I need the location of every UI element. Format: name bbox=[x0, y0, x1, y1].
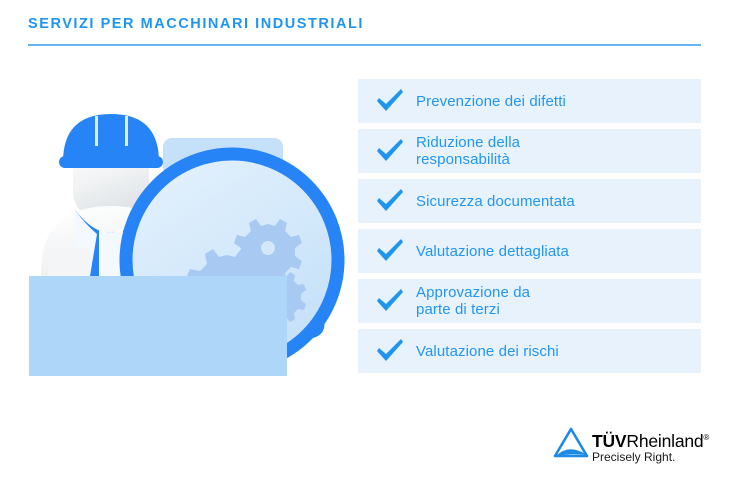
check-icon bbox=[358, 138, 416, 164]
list-item-label: Approvazione da parte di terzi bbox=[416, 284, 530, 318]
list-item[interactable]: Riduzione della responsabilità bbox=[358, 129, 701, 173]
foreground-box bbox=[29, 276, 287, 376]
list-item[interactable]: Approvazione da parte di terzi bbox=[358, 279, 701, 323]
list-item-label: Sicurezza documentata bbox=[416, 193, 575, 210]
illustration-worker-inspection bbox=[15, 100, 355, 390]
check-icon bbox=[358, 288, 416, 314]
check-icon bbox=[358, 188, 416, 214]
list-item[interactable]: Valutazione dettagliata bbox=[358, 229, 701, 273]
logo-tuv-text: TÜV bbox=[592, 431, 626, 451]
tuv-rheinland-triangle-icon bbox=[552, 425, 592, 461]
logo-wordmark: TÜVRheinland® bbox=[592, 428, 709, 451]
check-icon bbox=[358, 238, 416, 264]
services-checklist: Prevenzione dei difetti Riduzione della … bbox=[358, 79, 701, 379]
tuv-rheinland-logo: TÜVRheinland® Precisely Right. bbox=[552, 423, 712, 473]
list-item[interactable]: Prevenzione dei difetti bbox=[358, 79, 701, 123]
header: Servizi per macchinari industriali bbox=[28, 14, 701, 46]
list-item[interactable]: Valutazione dei rischi bbox=[358, 329, 701, 373]
list-item-label: Valutazione dettagliata bbox=[416, 243, 569, 260]
header-divider bbox=[28, 44, 701, 46]
list-item[interactable]: Sicurezza documentata bbox=[358, 179, 701, 223]
logo-rheinland-text: Rheinland bbox=[626, 431, 703, 451]
list-item-label: Prevenzione dei difetti bbox=[416, 93, 566, 110]
hard-hat bbox=[59, 114, 163, 168]
check-icon bbox=[358, 88, 416, 114]
logo-tagline: Precisely Right. bbox=[592, 450, 675, 464]
list-item-label: Valutazione dei rischi bbox=[416, 343, 559, 360]
registered-trademark-icon: ® bbox=[703, 433, 709, 442]
list-item-label: Riduzione della responsabilità bbox=[416, 134, 520, 168]
check-icon bbox=[358, 338, 416, 364]
page-title: Servizi per macchinari industriali bbox=[28, 14, 701, 34]
